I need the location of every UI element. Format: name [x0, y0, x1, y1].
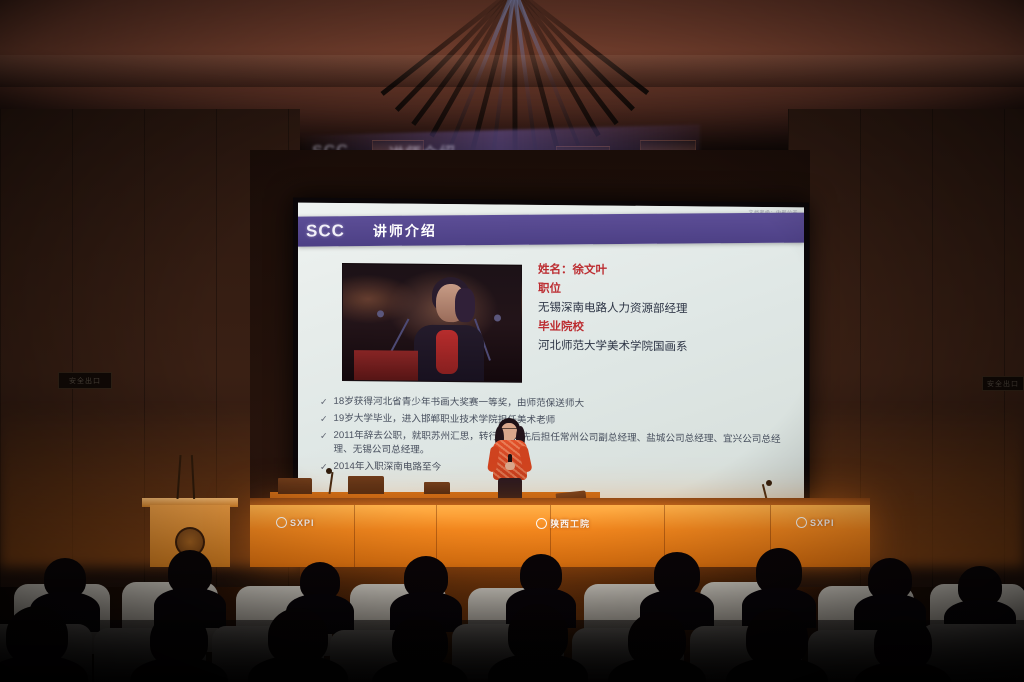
portrait-red-top: [436, 330, 458, 374]
sxpi-mark-icon-center: [536, 518, 547, 529]
presenter-hands: [505, 462, 515, 470]
presenter-person: [487, 418, 533, 510]
speaker-info-line: 姓名：徐文叶: [538, 261, 788, 282]
stage-logo-center-text: 陕西工院: [550, 517, 590, 530]
slide-title: 讲师介绍: [373, 220, 437, 241]
projection-screen: 文档密级：内部公开 SCC 讲师介绍: [298, 203, 804, 504]
equipment-box: [424, 482, 450, 494]
slide-bullet-text: 18岁获得河北省青少年书画大奖赛一等奖，由师范保送师大: [334, 395, 585, 411]
exit-sign-left: 安全出口: [58, 372, 112, 389]
speaker-info-line: 职位: [538, 280, 788, 301]
slide-header-bar: SCC 讲师介绍: [298, 213, 804, 247]
check-icon: ✓: [320, 395, 328, 409]
table-mic-head-1: [326, 468, 332, 474]
speaker-info-line: 无锡深南电路人力资源部经理: [538, 299, 788, 320]
slide-bullet-text: 2014年入职深南电路至今: [334, 460, 442, 475]
portrait-mic-head-left: [377, 311, 384, 318]
portrait-hair-side: [455, 288, 475, 322]
slide-body: 姓名：徐文叶职位无锡深南电路人力资源部经理毕业院校河北师范大学美术学院国画系 ✓…: [298, 255, 804, 504]
check-icon: ✓: [320, 412, 328, 426]
slide-bullet: ✓2014年入职深南电路至今: [320, 460, 794, 479]
speaker-info-list: 姓名：徐文叶职位无锡深南电路人力资源部经理毕业院校河北师范大学美术学院国画系: [538, 261, 788, 358]
table-mic-head-2: [766, 480, 772, 486]
stage-logo-center: 陕西工院: [536, 517, 590, 530]
stage-logo-right-text: SXPI: [810, 518, 835, 528]
speaker-info-line: 河北师范大学美术学院国画系: [538, 337, 788, 358]
slide-bullet: ✓19岁大学毕业，进入邯郸职业技术学院担任美术老师: [320, 412, 794, 431]
slide-logo-scc: SCC: [306, 221, 345, 241]
stage-logo-right: SXPI: [796, 517, 835, 528]
stage-logo-left-text: SXPI: [290, 518, 315, 528]
portrait-mic-head-right: [494, 314, 501, 321]
foreground-shadow: [0, 620, 1024, 682]
speaker-portrait-photo: [342, 263, 522, 383]
check-icon: ✓: [320, 429, 328, 443]
slide-bullet: ✓2011年辞去公职，就职苏州汇思，转行HR，先后担任常州公司副总经理、盐城公司…: [320, 429, 794, 462]
projection-screen-frame: 文档密级：内部公开 SCC 讲师介绍: [293, 198, 809, 509]
ceiling-band: [0, 55, 1024, 88]
laptop-center: [348, 476, 384, 494]
exit-sign-right: 安全出口: [982, 376, 1024, 391]
speaker-info-line: 毕业院校: [538, 318, 788, 339]
presentation-slide: 文档密级：内部公开 SCC 讲师介绍: [298, 203, 804, 504]
auditorium-photo: SCC 讲师介绍 安全出口 安全出口 文档密级：内部公开 SCC 讲师介绍: [0, 0, 1024, 682]
stage-logo-left: SXPI: [276, 517, 315, 528]
portrait-podium: [354, 350, 418, 381]
laptop-left: [278, 478, 312, 494]
slide-bullet-list: ✓18岁获得河北省青少年书画大奖赛一等奖，由师范保送师大✓19岁大学毕业，进入邯…: [320, 395, 794, 482]
slide-bullet: ✓18岁获得河北省青少年书画大奖赛一等奖，由师范保送师大: [320, 395, 794, 414]
sxpi-mark-icon-left: [276, 517, 287, 528]
sxpi-mark-icon-right: [796, 517, 807, 528]
slide-bullet-text: 2011年辞去公职，就职苏州汇思，转行HR，先后担任常州公司副总经理、盐城公司总…: [334, 429, 794, 461]
